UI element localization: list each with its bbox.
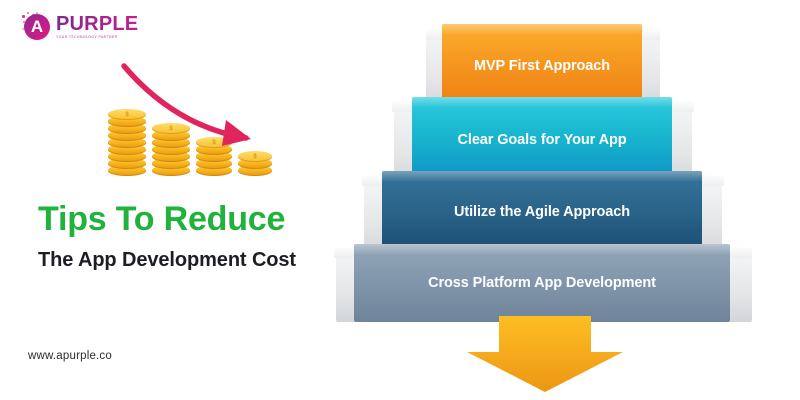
- down-arrow-icon: [455, 316, 635, 396]
- infographic-canvas: A PURPLE YOUR TECHNOLOGY PARTNER $: [0, 0, 800, 400]
- apurple-logo-icon: A: [22, 12, 52, 42]
- logo-letter-a: A: [24, 14, 50, 40]
- step-1-bevel: [442, 24, 642, 35]
- step-1-mvp-first-approach[interactable]: MVP First Approach: [442, 24, 642, 108]
- step-2-clear-goals-for-your-app[interactable]: Clear Goals for Your App: [412, 97, 672, 182]
- step-2-bevel: [412, 97, 672, 108]
- site-url[interactable]: www.apurple.co: [28, 350, 112, 362]
- step-3-label: Utilize the Agile Approach: [454, 204, 630, 220]
- logo-text-group: PURPLE YOUR TECHNOLOGY PARTNER: [56, 14, 138, 39]
- step-4-cross-platform-app-development[interactable]: Cross Platform App Development: [354, 244, 730, 322]
- coin-dollar-sign: $: [253, 154, 256, 160]
- step-2-label: Clear Goals for Your App: [458, 132, 627, 148]
- step-4-bevel: [354, 244, 730, 255]
- curved-down-arrow-icon: [118, 58, 268, 150]
- coin-top: $: [238, 151, 272, 162]
- page-title: Tips To Reduce: [38, 200, 368, 238]
- step-4-label: Cross Platform App Development: [428, 275, 656, 291]
- page-subtitle: The App Development Cost: [38, 248, 368, 272]
- headline-block: Tips To Reduce The App Development Cost: [38, 200, 368, 272]
- step-3-bevel: [382, 171, 702, 182]
- logo-tagline: YOUR TECHNOLOGY PARTNER: [56, 36, 138, 39]
- step-3-utilize-the-agile-approach[interactable]: Utilize the Agile Approach: [382, 171, 702, 253]
- logo-wordmark: PURPLE: [56, 14, 138, 34]
- brand-logo[interactable]: A PURPLE YOUR TECHNOLOGY PARTNER: [22, 10, 142, 44]
- step-1-label: MVP First Approach: [474, 58, 610, 74]
